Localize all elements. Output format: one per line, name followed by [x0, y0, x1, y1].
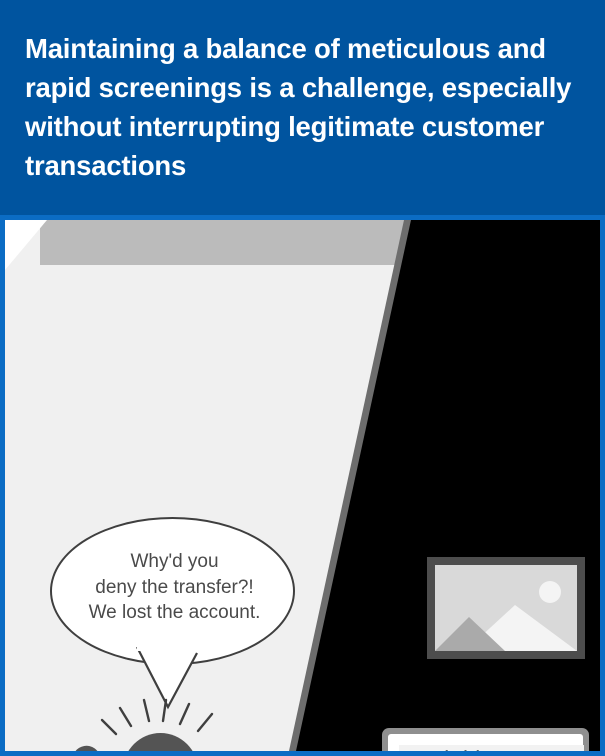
sun-icon — [539, 581, 561, 603]
dashboard-title: Fraud Risk — [408, 749, 484, 751]
speech-line-2: deny the transfer?! — [52, 575, 297, 601]
risk-bar-chart — [525, 749, 563, 751]
speech-bubble-text: Why'd you deny the transfer?! We lost th… — [52, 549, 297, 626]
fraud-risk-dashboard[interactable]: Fraud Risk — [399, 745, 584, 751]
scene-inner: Why'd you deny the transfer?! We lost th… — [5, 220, 600, 751]
speech-line-1: Why'd you — [52, 549, 297, 575]
illustration-page: Maintaining a balance of meticulous and … — [0, 0, 605, 756]
monitor: Fraud Risk — [382, 728, 589, 751]
dashboard-header: Fraud Risk — [399, 745, 584, 751]
ceiling — [5, 220, 435, 270]
speech-line-3: We lost the account. — [52, 600, 297, 626]
wall-picture-frame — [427, 557, 585, 659]
speech-bubble: Why'd you deny the transfer?! We lost th… — [50, 517, 295, 665]
page-title: Maintaining a balance of meticulous and … — [25, 29, 585, 185]
header-band: Maintaining a balance of meticulous and … — [0, 0, 605, 215]
gear-icon[interactable] — [567, 749, 583, 751]
monitor-bezel: Fraud Risk — [388, 734, 583, 751]
scene-frame: Why'd you deny the transfer?! We lost th… — [0, 215, 605, 756]
wall-picture-canvas — [435, 565, 577, 651]
